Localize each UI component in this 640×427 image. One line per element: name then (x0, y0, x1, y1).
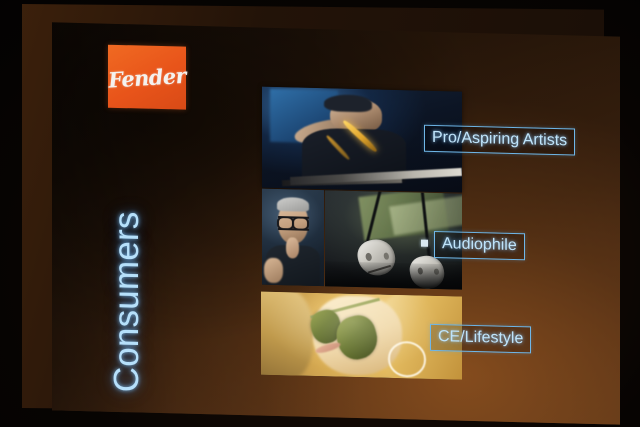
consumers-title-label: Consumers (108, 211, 146, 393)
fender-logo: Fender (108, 45, 186, 110)
callout-audiophile: Audiophile (434, 231, 525, 260)
earbuds-bottom-shadow (325, 261, 462, 289)
room-background: Fender Consumers (0, 0, 640, 427)
eyeglasses-shape (278, 216, 309, 231)
earbud-port-a (365, 253, 372, 262)
callout-ce-lifestyle: CE/Lifestyle (430, 324, 531, 354)
projection-screen: Fender Consumers (22, 4, 604, 414)
man-with-glasses-photo (262, 189, 324, 287)
man-hand-shape (286, 237, 300, 258)
audiophile-marker-icon (421, 240, 428, 247)
man-hair-shape (277, 197, 309, 212)
callout-pro-aspiring-artists: Pro/Aspiring Artists (424, 125, 575, 156)
man-photo-content (262, 189, 324, 287)
fender-wordmark: Fender (107, 62, 187, 92)
consumers-title: Consumers (108, 211, 146, 393)
artist-hair-shape (324, 94, 372, 112)
man-second-hand-shape (264, 258, 283, 283)
presentation-slide: Fender Consumers (52, 22, 620, 424)
earbud-port-b (383, 253, 389, 260)
